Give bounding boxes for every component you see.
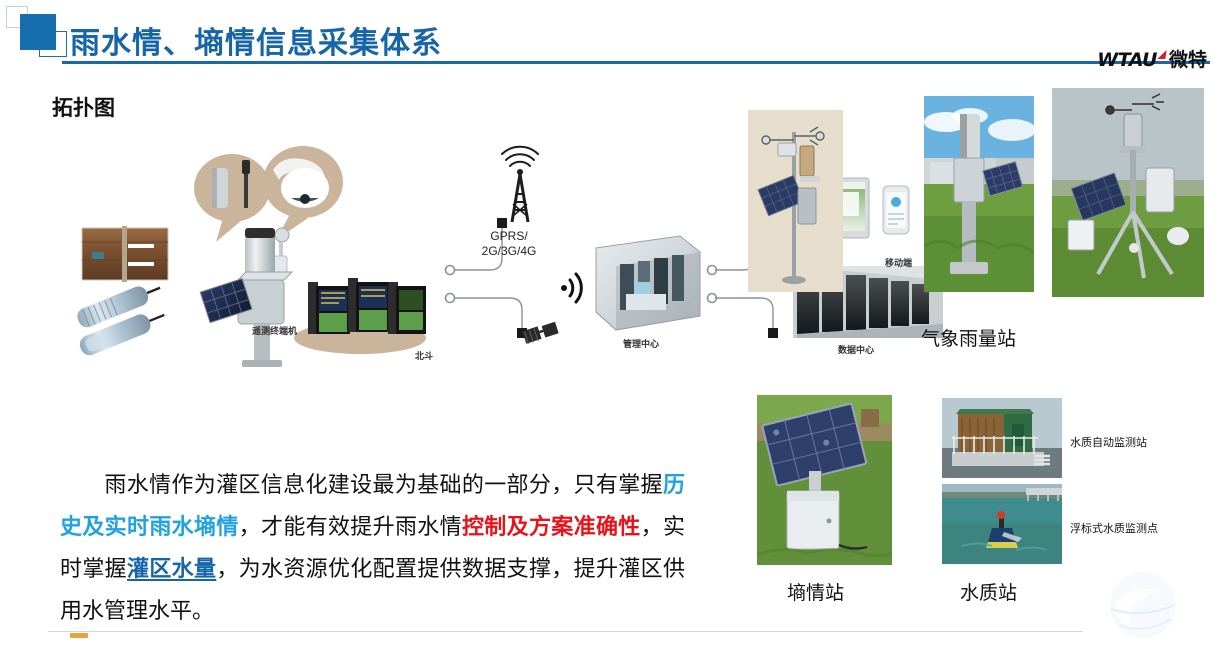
footer-accent-mark	[70, 633, 88, 638]
caption-water-quality-station: 水质站	[960, 578, 1017, 605]
wq-station-svg	[942, 398, 1062, 478]
caption-weather-station: 气象雨量站	[921, 324, 1016, 351]
body-paragraph: 雨水情作为灌区信息化建设最为基础的一部分，只有掌握历史及实时雨水墒情，才能有效提…	[60, 465, 685, 633]
header-divider	[62, 61, 1210, 64]
link-endpoint-gprs	[497, 218, 507, 228]
photo-weather-station-render	[748, 110, 843, 292]
weather-station-render-svg	[748, 110, 843, 292]
rtu-devices	[294, 278, 426, 354]
topology-label-management-center: 管理中心	[623, 337, 659, 350]
paragraph-text-1: 雨水情作为灌区信息化建设最为基础的一部分，只有掌握	[104, 473, 663, 498]
photo-tripod-weather-station	[1052, 88, 1204, 297]
paragraph-highlight-underline: 灌区水量	[127, 557, 216, 582]
topology-label-gprs-line2: 2G/3G/4G	[466, 245, 552, 259]
soil-profile-image	[82, 226, 168, 282]
caption-soil-station: 墒情站	[787, 578, 844, 605]
paragraph-highlight-red: 控制及方案准确性	[462, 515, 641, 540]
brand-triangle-icon	[1157, 50, 1166, 59]
brand-latin-text: WTAU	[1097, 51, 1157, 70]
footer-divider	[48, 631, 1083, 632]
soil-station-svg	[757, 395, 892, 565]
topology-label-rtu: 遥测终端机	[252, 324, 297, 337]
link-endpoint-datacenter	[768, 328, 778, 338]
callout-dome-camera	[263, 146, 343, 240]
page-title: 雨水情、墒情信息采集体系	[70, 18, 442, 62]
slide-root: 雨水情、墒情信息采集体系 WTAU 微特 拓扑图	[0, 0, 1215, 645]
rain-gauge-field-svg	[924, 96, 1034, 292]
topology-label-datacenter: 数据中心	[838, 343, 874, 356]
photo-water-quality-station	[942, 398, 1062, 478]
photo-water-quality-buoy	[942, 484, 1062, 564]
label-water-quality-buoy-point: 浮标式水质监测点	[1070, 520, 1158, 536]
brand-logo: WTAU 微特	[1097, 44, 1207, 70]
wireless-signal-icon	[561, 274, 581, 302]
label-water-quality-auto-station: 水质自动监测站	[1070, 434, 1147, 450]
decorative-square-logo	[6, 6, 66, 62]
wq-buoy-svg	[942, 484, 1062, 564]
page-header: 雨水情、墒情信息采集体系 WTAU 微特	[0, 0, 1215, 78]
topology-diagram: 遥测终端机 GPRS/ 2G/3G/4G 北斗 管理中心 PC端 移动端 数据中…	[60, 130, 730, 380]
brand-chinese-text: 微特	[1169, 51, 1207, 70]
cell-tower-icon	[502, 147, 538, 222]
photo-soil-moisture-station	[757, 395, 892, 565]
logo-outline-square-bottom	[39, 31, 67, 57]
soil-sensor-probes	[75, 278, 168, 357]
management-center-image	[596, 236, 700, 330]
photo-rain-gauge-field	[924, 96, 1034, 292]
topology-label-mobile: 移动端	[885, 256, 912, 269]
telemetry-pole-station	[200, 228, 292, 367]
paragraph-text-2: ，才能有效提升雨水情	[239, 515, 462, 540]
beidou-satellite-icon	[522, 321, 559, 345]
water-drop-globe-watermark	[1089, 565, 1197, 641]
topology-label-gprs-line1: GPRS/	[466, 230, 552, 244]
mobile-phone-image	[883, 186, 909, 234]
section-heading-topology: 拓扑图	[52, 92, 115, 122]
topology-label-beidou: 北斗	[415, 349, 433, 362]
tripod-weather-svg	[1052, 88, 1204, 297]
